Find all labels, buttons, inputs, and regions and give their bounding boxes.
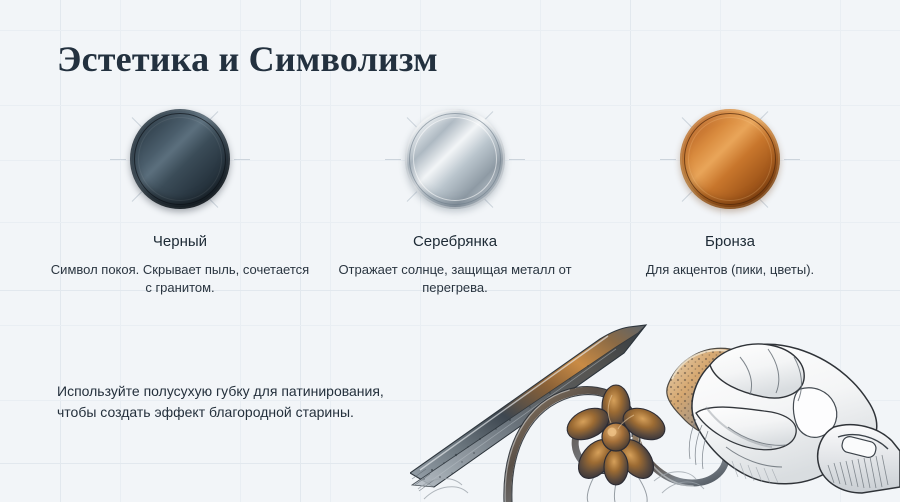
metal-rail-bar	[410, 325, 646, 491]
bronze-flower-ornament	[562, 385, 670, 485]
swatch-column-bronze[interactable]: Бронза Для акцентов (пики, цветы).	[580, 100, 880, 279]
swatch-description-bronze: Для акцентов (пики, цветы).	[580, 261, 880, 280]
swatch-column-black[interactable]: Черный Символ покоя. Скрывает пыль, соче…	[30, 100, 330, 298]
scroll-collar	[587, 449, 647, 502]
glove-fringe	[689, 419, 708, 469]
swatch-description-black: Символ покоя. Скрывает пыль, сочетается …	[30, 261, 330, 299]
swatch-disc-wrap-black	[30, 100, 330, 218]
paint-disc-bronze-icon[interactable]	[680, 109, 780, 209]
paint-disc-silver-icon[interactable]	[405, 109, 505, 209]
swatch-label-black: Черный	[30, 232, 330, 252]
wrought-iron-scroll	[508, 390, 726, 502]
page-title: Эстетика и Символизм	[57, 38, 438, 80]
sketch-swirls	[418, 472, 704, 499]
gloved-hand-patinating-wrought-iron-illustration	[410, 287, 900, 502]
slide-canvas: Эстетика и Символизм Черный Символ покоя…	[0, 0, 900, 502]
wrought-iron-scroll-outline	[504, 387, 640, 502]
swatch-description-silver: Отражает солнце, защищая металл от перег…	[305, 261, 605, 299]
swatch-label-bronze: Бронза	[580, 232, 880, 252]
swatch-label-silver: Серебрянка	[305, 232, 605, 252]
patina-sponge	[667, 348, 792, 443]
swatch-column-silver[interactable]: Серебрянка Отражает солнце, защищая мета…	[305, 100, 605, 298]
swatch-disc-wrap-bronze	[580, 100, 880, 218]
paint-disc-black-icon[interactable]	[130, 109, 230, 209]
wrought-iron-scroll-highlight	[505, 390, 693, 502]
gloved-hand	[692, 344, 900, 493]
patination-tip-text: Используйте полусухую губку для патиниро…	[57, 381, 427, 423]
swatch-disc-wrap-silver	[305, 100, 605, 218]
